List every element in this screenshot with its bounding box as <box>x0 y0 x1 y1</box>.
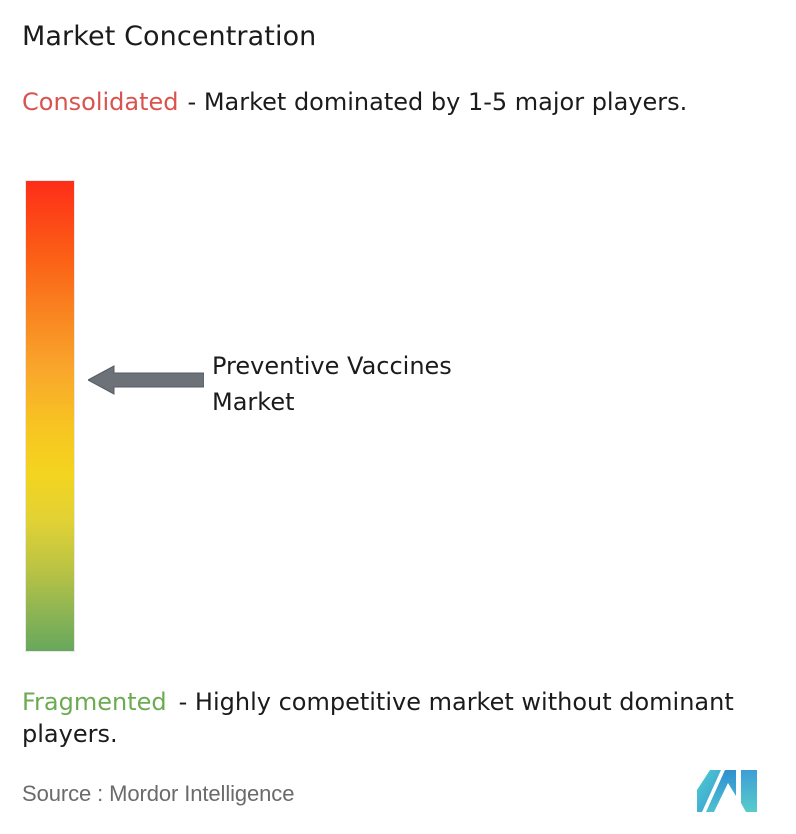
source-attribution: Source : Mordor Intelligence <box>22 780 294 808</box>
legend-fragmented: Fragmented- Highly competitive market wi… <box>22 686 782 750</box>
market-concentration-spectrum-bar <box>25 180 75 652</box>
callout-label: Preventive VaccinesMarket <box>212 348 452 420</box>
legend-consolidated: Consolidated- Market dominated by 1-5 ma… <box>22 86 778 118</box>
callout-label-line1: Preventive Vaccines <box>212 352 452 380</box>
page-title: Market Concentration <box>22 20 316 54</box>
left-arrow-icon <box>88 363 204 397</box>
legend-fragmented-term: Fragmented <box>22 688 167 716</box>
mordor-intelligence-logo-icon <box>696 770 758 812</box>
legend-consolidated-description: - Market dominated by 1-5 major players. <box>188 88 688 116</box>
callout-label-line2: Market <box>212 388 295 416</box>
legend-consolidated-term: Consolidated <box>22 88 179 116</box>
